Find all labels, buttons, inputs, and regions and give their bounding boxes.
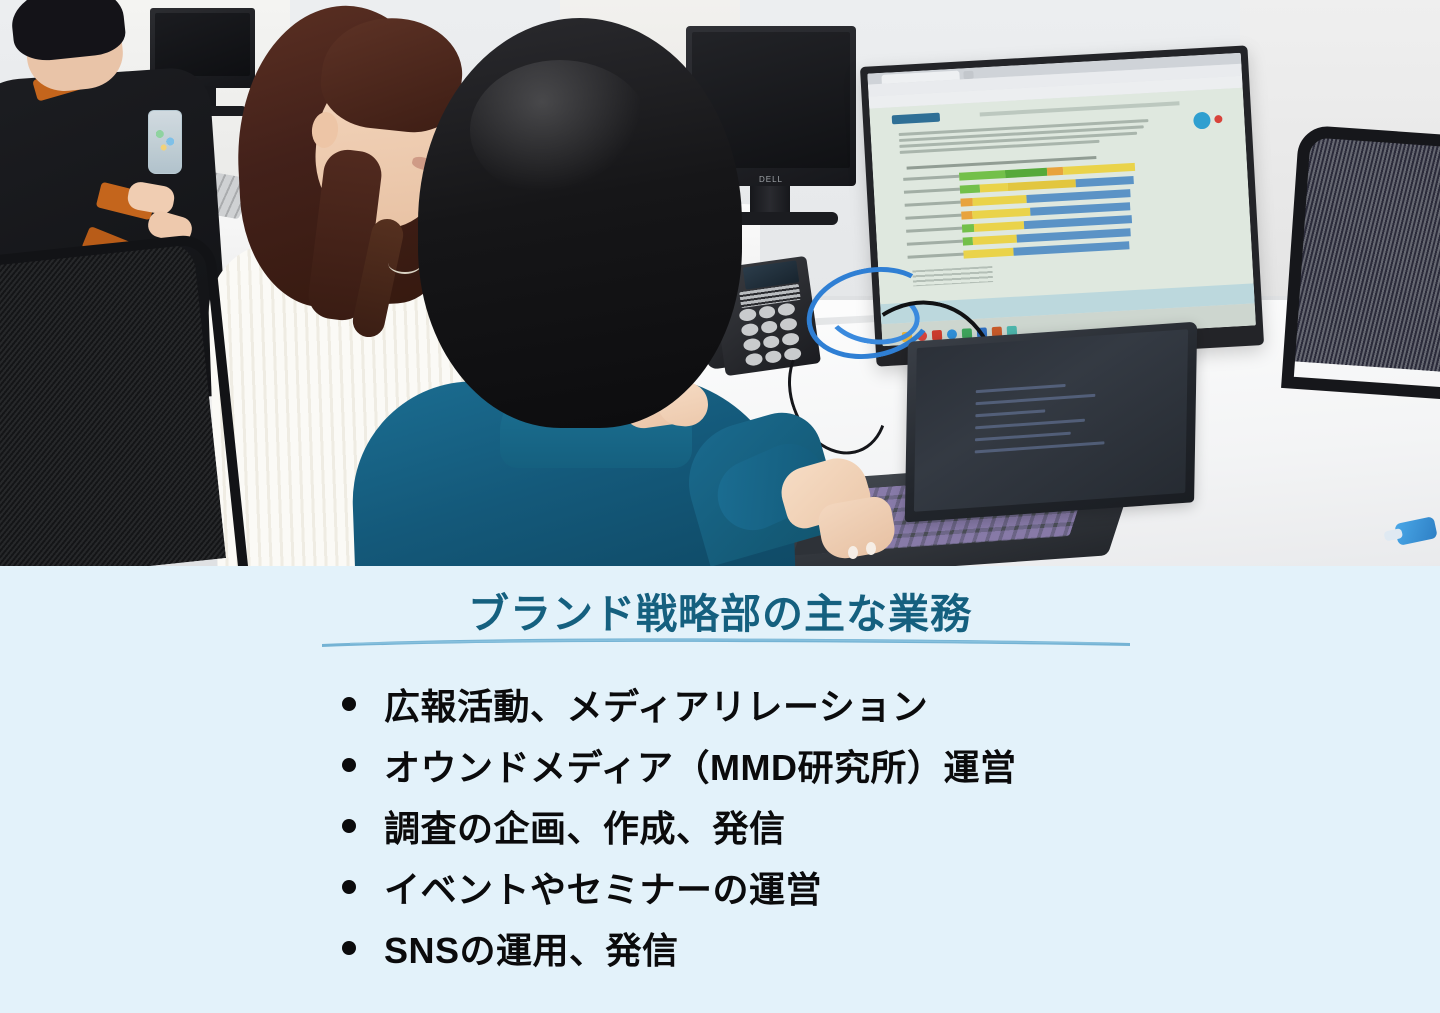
list-item: イベントやセミナーの運営: [342, 856, 1380, 917]
list-item-label: 調査の企画、作成、発信: [384, 800, 786, 852]
chart-segment-orange: [1047, 166, 1063, 175]
page-title: ブランド戦略部の主な業務: [0, 580, 1440, 640]
list-item: 調査の企画、作成、発信: [342, 795, 1380, 856]
browser-profile-icon[interactable]: [1214, 115, 1222, 123]
person-b-hair-highlight: [470, 60, 650, 200]
chart-segment-green: [963, 237, 973, 246]
site-chat-icon[interactable]: [1193, 112, 1211, 130]
chart-row-label: [907, 240, 963, 246]
site-navigation[interactable]: [980, 101, 1180, 116]
duties-list: 広報活動、メディアリレーション オウンドメディア（MMD研究所）運営 調査の企画…: [342, 673, 1380, 978]
chart-segment-yellow: [980, 182, 1008, 192]
bullet-icon: [342, 819, 356, 833]
list-item-label: オウンドメディア（MMD研究所）運営: [384, 739, 1016, 791]
person-a-necklace: [388, 252, 422, 274]
chart-segment-yellow: [963, 247, 1013, 258]
background-monitor-left-screen: [155, 13, 250, 76]
chart-segment-yellow: [974, 221, 1024, 232]
screenshot-root: DELL: [0, 0, 1440, 1013]
foreground-chair-right-frame: [1281, 125, 1440, 404]
chart-row-label: [905, 214, 961, 220]
info-panel: ブランド戦略部の主な業務 広報活動、メディアリレーション オウンドメディア（MM…: [0, 566, 1440, 1013]
chart-segment-green-dark: [1005, 167, 1047, 177]
bullet-icon: [342, 880, 356, 894]
chart-segment-yellow: [973, 234, 1017, 244]
chart-segment-blue: [1013, 241, 1129, 255]
chart-row-label: [904, 188, 960, 194]
chart-segment-yellow-dark: [1008, 179, 1076, 191]
list-item-label: イベントやセミナーの運営: [384, 861, 822, 913]
list-item: SNSの運用、発信: [342, 917, 1380, 978]
chart-segment-blue: [1026, 189, 1130, 203]
list-item: 広報活動、メディアリレーション: [342, 673, 1380, 734]
chart-row-label: [903, 175, 959, 181]
office-photo: DELL: [0, 0, 1440, 566]
bullet-icon: [342, 697, 356, 711]
chart-row-label: [905, 201, 961, 207]
chart-row-label: [908, 253, 964, 259]
laptop-lid: [905, 322, 1197, 523]
site-logo[interactable]: [892, 113, 940, 125]
person-b-fingernail: [848, 546, 858, 559]
chart-segment-orange: [960, 197, 972, 206]
person-b-fingernail: [866, 542, 876, 555]
chart-segment-green: [959, 170, 1005, 181]
chart-segment-green: [962, 223, 974, 232]
chart-segment-blue: [1075, 175, 1133, 186]
chart-segment-yellow: [972, 207, 1030, 218]
chart-segment-blue: [1024, 215, 1132, 229]
chart-segment-blue: [1030, 202, 1130, 216]
chart-segment-orange: [961, 211, 972, 220]
bullet-icon: [342, 941, 356, 955]
chart-row-label: [906, 227, 962, 233]
chart-segment-yellow: [972, 194, 1026, 205]
desk-phone-keypad: [739, 302, 802, 363]
foreground-chair-left-frame: [0, 232, 250, 566]
chart-segment-yellow: [1063, 162, 1135, 174]
chart-segment-blue: [1016, 228, 1130, 242]
water-bottle: [148, 110, 182, 174]
list-item-label: SNSの運用、発信: [384, 922, 679, 974]
list-item-label: 広報活動、メディアリレーション: [384, 678, 928, 730]
list-item: オウンドメディア（MMD研究所）運営: [342, 734, 1380, 795]
bullet-icon: [342, 758, 356, 772]
stacked-bar-chart: [903, 158, 1208, 266]
chart-segment-green: [960, 184, 980, 193]
laptop-screen: [914, 329, 1188, 512]
